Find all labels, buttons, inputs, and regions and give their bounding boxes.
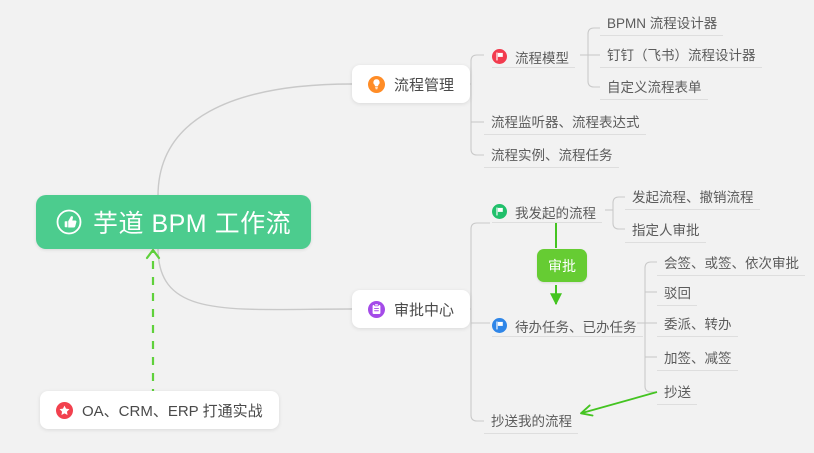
branch-node-approval-center[interactable]: 审批中心 xyxy=(352,290,470,328)
connector-todo-bracket xyxy=(645,262,657,392)
flag-icon xyxy=(492,204,507,219)
leaf-carbon-copy[interactable]: 抄送 xyxy=(657,378,697,405)
leaf-process-instance-task[interactable]: 流程实例、流程任务 xyxy=(484,141,619,168)
branch-label-approval-center: 审批中心 xyxy=(394,299,454,320)
leaf-countersign-orsign-sequential[interactable]: 会签、或签、依次审批 xyxy=(657,249,805,276)
star-icon xyxy=(56,402,73,419)
arrow-carbon-copy-to-cc-process xyxy=(582,392,657,413)
leaf-bpmn-designer[interactable]: BPMN 流程设计器 xyxy=(600,9,723,36)
connector-process-management-bracket xyxy=(471,55,484,155)
node-label-todo-done-tasks: 待办任务、已办任务 xyxy=(515,321,637,335)
lightbulb-icon xyxy=(368,76,385,93)
arrow-integration-to-root-head xyxy=(147,250,159,258)
node-process-model[interactable]: 流程模型 xyxy=(492,41,575,68)
leaf-add-remove-sign[interactable]: 加签、减签 xyxy=(657,344,738,371)
leaf-cc-to-me-process[interactable]: 抄送我的流程 xyxy=(484,407,578,434)
node-label-my-initiated-process: 我发起的流程 xyxy=(515,207,596,221)
leaf-dingtalk-feishu-designer[interactable]: 钉钉（飞书）流程设计器 xyxy=(600,41,762,68)
bottom-node-integration-practice[interactable]: OA、CRM、ERP 打通实战 xyxy=(40,391,279,429)
clipboard-icon xyxy=(368,301,385,318)
leaf-custom-process-form[interactable]: 自定义流程表单 xyxy=(600,73,708,100)
root-node[interactable]: 芋道 BPM 工作流 xyxy=(36,195,311,249)
flag-icon xyxy=(492,318,507,333)
connector-approval-center-bracket xyxy=(471,223,490,421)
connector-my-process-bracket xyxy=(613,197,625,229)
bottom-node-label: OA、CRM、ERP 打通实战 xyxy=(82,400,263,421)
tag-label-approval: 审批 xyxy=(548,256,576,276)
leaf-start-cancel-process[interactable]: 发起流程、撤销流程 xyxy=(625,183,760,210)
flag-icon xyxy=(492,49,507,64)
thumbs-up-icon xyxy=(56,209,82,235)
connector-root-to-approval-center xyxy=(158,248,352,310)
node-todo-done-tasks[interactable]: 待办任务、已办任务 xyxy=(492,310,643,337)
leaf-reject[interactable]: 驳回 xyxy=(657,279,697,306)
leaf-delegate-transfer[interactable]: 委派、转办 xyxy=(657,310,738,337)
branch-label-process-management: 流程管理 xyxy=(394,74,454,95)
connector-root-to-process-management xyxy=(158,84,352,196)
branch-node-process-management[interactable]: 流程管理 xyxy=(352,65,470,103)
tag-node-approval[interactable]: 审批 xyxy=(537,249,587,282)
node-my-initiated-process[interactable]: 我发起的流程 xyxy=(492,196,602,223)
leaf-process-listener-expression[interactable]: 流程监听器、流程表达式 xyxy=(484,108,646,135)
mindmap-canvas: 芋道 BPM 工作流 流程管理 流程模型 BPMN 流程设计器 钉钉（飞书）流程… xyxy=(0,0,814,453)
leaf-assignee-approval[interactable]: 指定人审批 xyxy=(625,216,706,243)
connector-process-model-bracket xyxy=(588,28,600,87)
root-label: 芋道 BPM 工作流 xyxy=(93,204,291,240)
node-label-process-model: 流程模型 xyxy=(515,52,569,66)
